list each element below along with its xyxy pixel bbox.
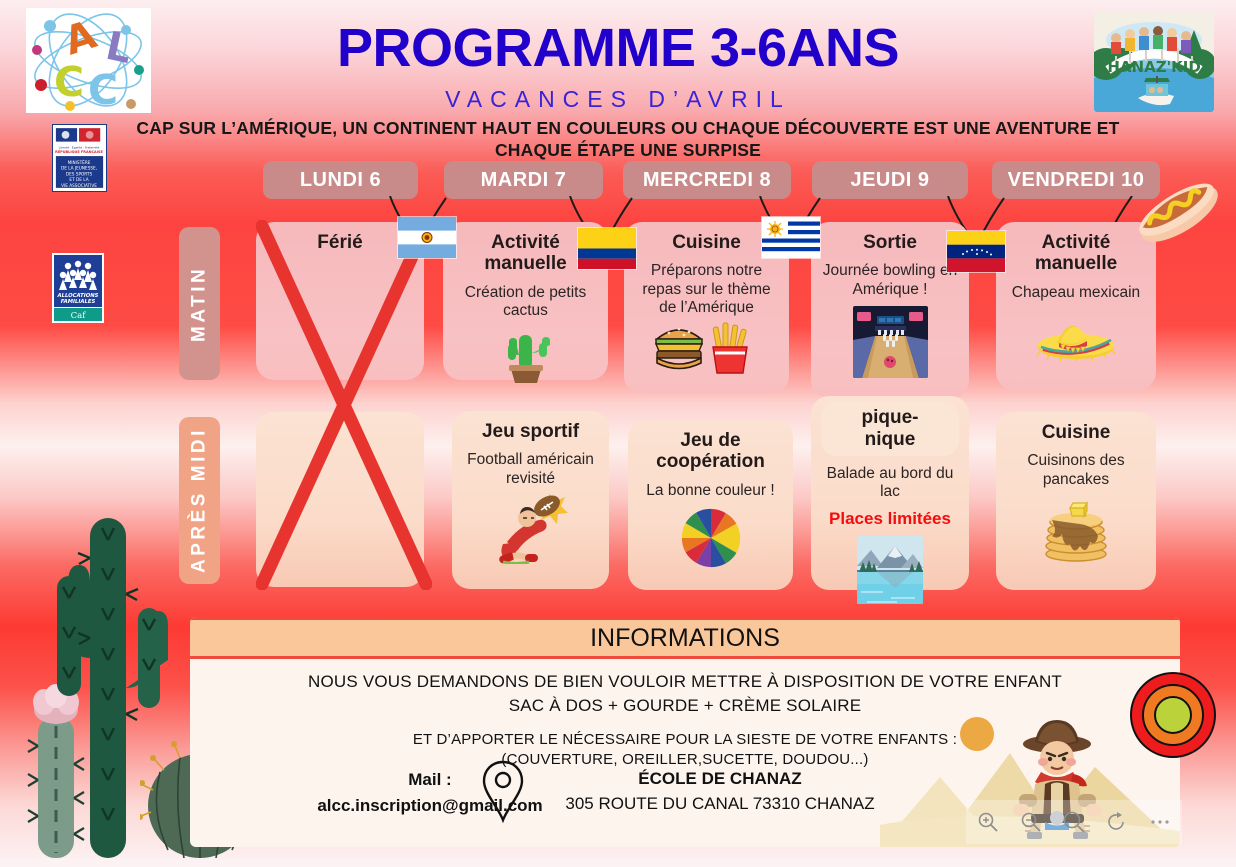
page-title: PROGRAMME 3-6ANS [0, 17, 1236, 79]
day-header-label: VENDREDI 10 [1008, 169, 1145, 192]
sombrero-icon [1035, 309, 1117, 361]
target-decoration [1130, 672, 1216, 758]
svg-text:RÉPUBLIQUE FRANÇAISE: RÉPUBLIQUE FRANÇAISE [55, 149, 103, 154]
card-title: Jeu de coopération [638, 430, 783, 473]
potted-cactus-icon [495, 327, 557, 385]
card-title: pique-nique [821, 402, 959, 456]
card-description: Balade au bord du lac [821, 465, 959, 502]
day-header-label: MERCREDI 8 [643, 169, 771, 192]
uruguay-flag [762, 217, 820, 258]
card-description: La bonne couleur ! [638, 482, 783, 500]
svg-text:VIE ASSOCIATIVE: VIE ASSOCIATIVE [61, 183, 97, 188]
time-label-text: MATIN [189, 265, 211, 341]
card-description: Cuisinons des pancakes [1006, 452, 1146, 489]
activity-card-afternoon-mercredi[interactable]: Jeu de coopération La bonne couleur ! [628, 420, 793, 590]
activity-card-afternoon-mardi[interactable]: Jeu sportif Football américain revisité [452, 411, 609, 589]
day-header-label: JEUDI 9 [850, 169, 929, 192]
informations-heading: INFORMATIONS [190, 617, 1180, 659]
time-label-afternoon: APRÈS MIDI [179, 417, 220, 584]
day-header-label: LUNDI 6 [300, 169, 381, 192]
day-header-jeudi[interactable]: JEUDI 9 [812, 161, 968, 199]
argentina-flag [398, 217, 456, 258]
time-label-text: APRÈS MIDI [189, 428, 211, 574]
rotate-icon[interactable] [1102, 807, 1132, 837]
address-block: ÉCOLE DE CHANAZ 305 ROUTE DU CANAL 73310… [560, 769, 880, 814]
color-wheel-icon [680, 507, 742, 569]
viewer-bottom-strip [0, 858, 1236, 867]
card-title: Cuisine [1006, 422, 1146, 443]
card-description: Football américain revisité [462, 451, 599, 488]
activity-card-morning-vendredi[interactable]: Activité manuelle Chapeau mexicain [996, 222, 1156, 390]
american-football-player-icon [489, 488, 573, 564]
caf-allocations-familiales-logo: ALLOCATIONS FAMILIALES Caf [52, 253, 104, 323]
card-title: Activité manuelle [453, 232, 598, 275]
closed-day-x-mark [256, 220, 432, 590]
venezuela-flag [947, 231, 1005, 272]
activity-card-afternoon-vendredi[interactable]: Cuisine Cuisinons des pancakes [996, 412, 1156, 590]
time-label-morning: MATIN [179, 227, 220, 380]
card-description: Chapeau mexicain [1006, 284, 1146, 302]
activity-card-morning-jeudi[interactable]: Sortie Journée bowling en Amérique ! [811, 222, 969, 398]
card-description: Journée bowling en Amérique ! [821, 262, 959, 299]
card-description: Création de petits cactus [453, 284, 598, 321]
card-description: Préparons notre repas sur le thème de l’… [634, 262, 779, 317]
fit-zoom-icon[interactable] [1059, 807, 1089, 837]
bowling-alley-photo [853, 306, 928, 378]
mountain-lake-photo [857, 536, 923, 604]
colombia-flag [578, 228, 636, 269]
day-header-mardi[interactable]: MARDI 7 [444, 161, 603, 199]
zoom-in-icon[interactable] [973, 807, 1003, 837]
svg-text:Caf: Caf [71, 311, 87, 321]
svg-text:ET DE LA: ET DE LA [69, 177, 88, 182]
activity-card-afternoon-jeudi[interactable]: pique-nique Balade au bord du lac Places… [811, 396, 969, 590]
more-options-icon[interactable] [1145, 807, 1175, 837]
day-header-label: MARDI 7 [481, 169, 567, 192]
svg-text:DE LA JEUNESSE,: DE LA JEUNESSE, [61, 166, 97, 171]
card-title: Activité manuelle [1006, 232, 1146, 275]
page-subtitle: VACANCES D’AVRIL [0, 86, 1236, 113]
school-address: 305 ROUTE DU CANAL 73310 CHANAZ [560, 794, 880, 814]
card-title: Jeu sportif [462, 421, 599, 442]
location-pin-icon [480, 759, 526, 823]
svg-text:FAMILIALES: FAMILIALES [61, 299, 96, 305]
day-header-mercredi[interactable]: MERCREDI 8 [623, 161, 791, 199]
informations-line-1: NOUS VOUS DEMANDONS DE BIEN VOULOIR METT… [190, 672, 1180, 692]
card-title: Cuisine [634, 232, 779, 253]
svg-text:DES SPORTS: DES SPORTS [66, 171, 93, 176]
day-header-lundi[interactable]: LUNDI 6 [263, 161, 418, 199]
page-tagline: CAP SUR L’AMÉRIQUE, UN CONTINENT HAUT EN… [128, 117, 1128, 162]
viewer-zoom-controls[interactable] [966, 800, 1182, 844]
poster-canvas: A L C C Liberté · Égalité · Fraternité R… [0, 0, 1236, 858]
burger-fries-icon [653, 319, 761, 375]
ministere-jeunesse-sports-logo: Liberté · Égalité · Fraternité RÉPUBLIQU… [52, 124, 107, 192]
card-title: Sortie [821, 232, 959, 253]
school-name: ÉCOLE DE CHANAZ [560, 769, 880, 789]
svg-text:MINISTÈRE: MINISTÈRE [68, 160, 91, 165]
zoom-out-icon[interactable] [1016, 807, 1046, 837]
pancakes-icon [1038, 496, 1114, 562]
svg-text:Liberté · Égalité · Fraternité: Liberté · Égalité · Fraternité [59, 144, 100, 149]
card-warning: Places limitées [821, 509, 959, 529]
